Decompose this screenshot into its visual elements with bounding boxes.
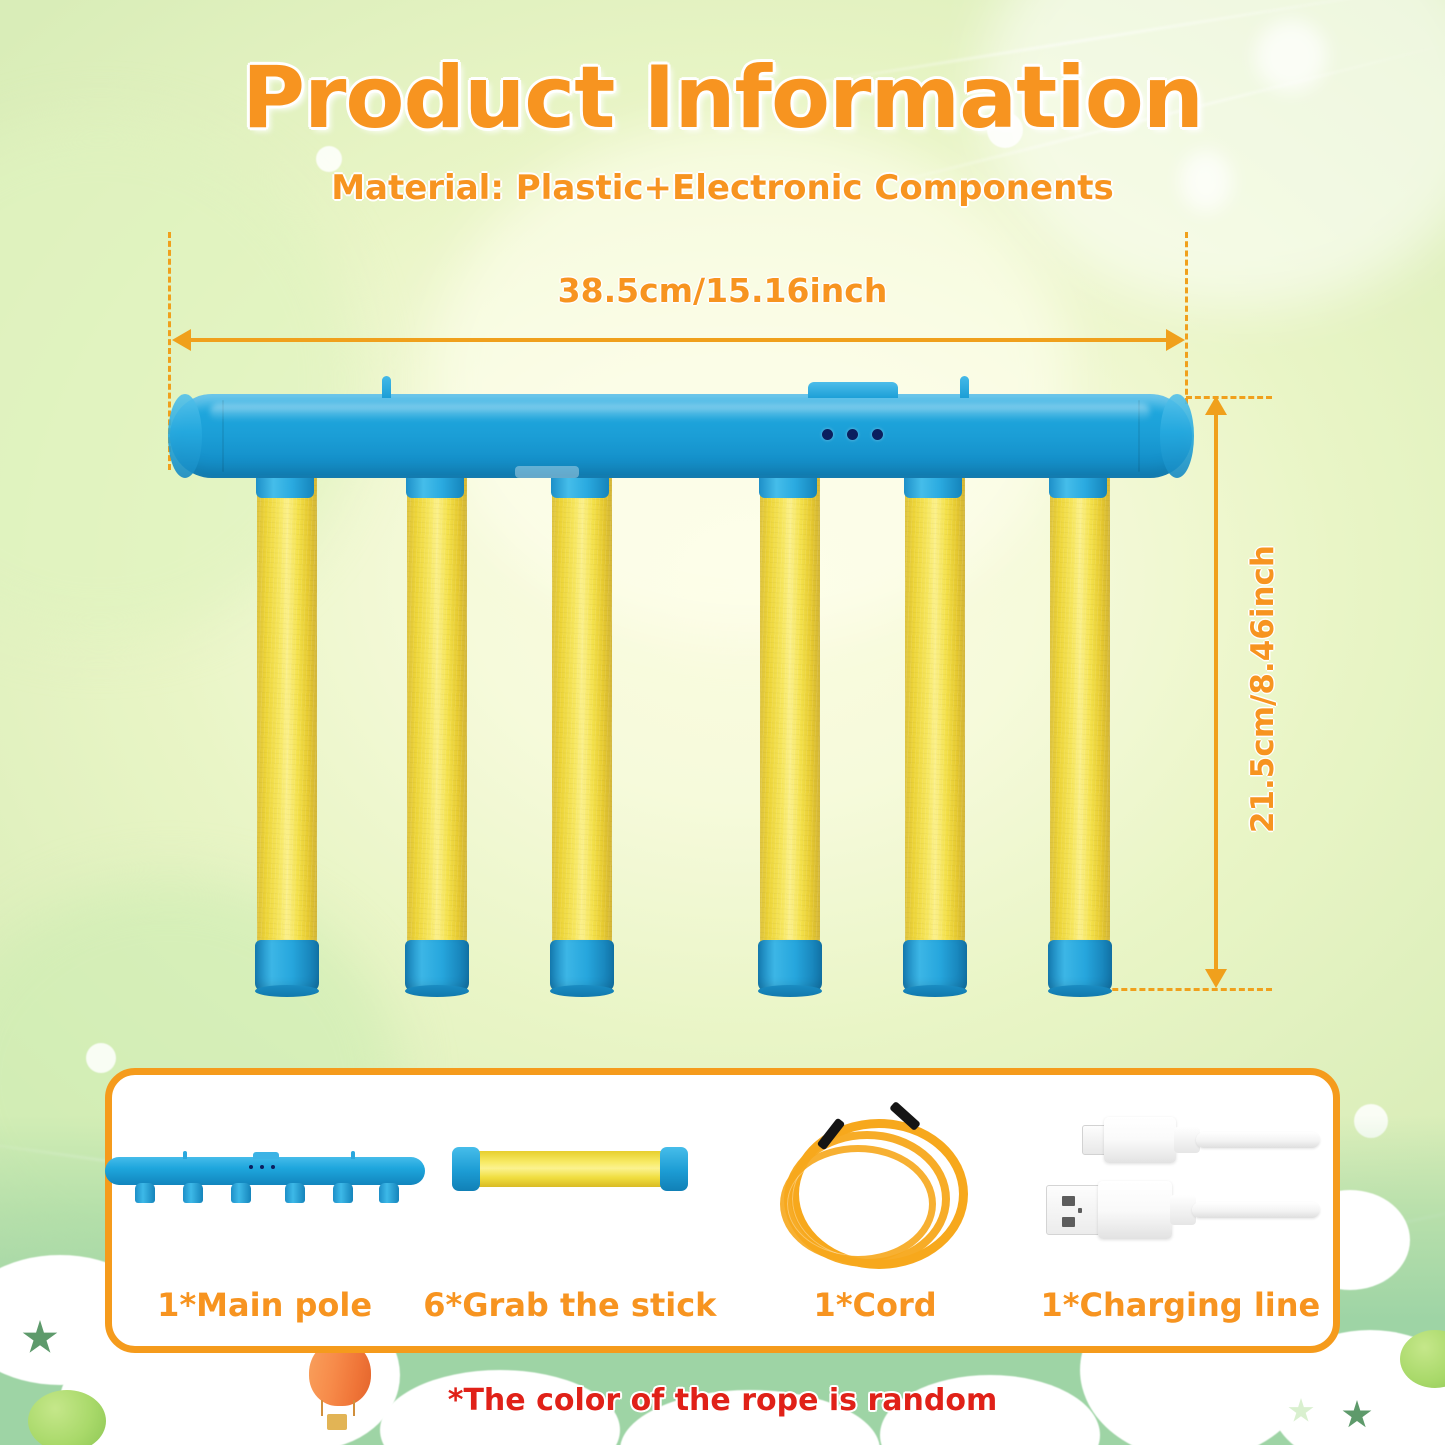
contents-label: 1*Main pole (112, 1286, 417, 1324)
height-dimension-label: 21.5cm/8.46inch (1245, 545, 1281, 833)
grab-stick (905, 470, 965, 948)
grab-stick-foot (550, 940, 614, 992)
grab-stick (760, 470, 820, 948)
contents-label: 1*Cord (723, 1286, 1028, 1324)
height-dimension-line (1214, 404, 1218, 980)
contents-label: 6*Grab the stick (417, 1286, 722, 1324)
grab-stick-icon (417, 1105, 722, 1255)
indicator-dot (822, 429, 833, 440)
pole-nub (960, 376, 969, 398)
grab-stick (257, 470, 317, 948)
contents-item-main-pole: 1*Main pole (112, 1075, 417, 1346)
width-dimension-label: 38.5cm/15.16inch (0, 271, 1445, 310)
rope-color-note: *The color of the rope is random (0, 1383, 1445, 1418)
contents-label: 1*Charging line (1028, 1286, 1333, 1324)
product-information-infographic: Product Information Material: Plastic+El… (0, 0, 1445, 1445)
contents-item-grab-stick: 6*Grab the stick (417, 1075, 722, 1346)
width-arrow-right-icon (1166, 329, 1185, 351)
usb-a-connector (1046, 1185, 1102, 1235)
width-arrow-left-icon (172, 329, 191, 351)
contents-item-charging-line: 1*Charging line (1028, 1075, 1333, 1346)
pole-nub (382, 376, 391, 398)
grab-stick (552, 470, 612, 948)
dimension-guide-right (1185, 232, 1188, 404)
grab-stick-foot (255, 940, 319, 992)
pole-slot (515, 466, 579, 478)
height-arrow-up-icon (1205, 396, 1227, 415)
grab-stick-foot (405, 940, 469, 992)
cord-icon (723, 1105, 1028, 1255)
indicator-dot (847, 429, 858, 440)
package-contents-box: 1*Main pole 6*Grab the stick (105, 1068, 1340, 1353)
grab-stick-foot (1048, 940, 1112, 992)
indicator-lights (822, 429, 883, 440)
height-arrow-down-icon (1205, 969, 1227, 988)
indicator-dot (872, 429, 883, 440)
main-pole (170, 394, 1192, 478)
grab-stick (407, 470, 467, 948)
contents-item-cord: 1*Cord (723, 1075, 1028, 1346)
material-subtitle: Material: Plastic+Electronic Components (0, 168, 1445, 208)
pole-power-button[interactable] (808, 382, 898, 398)
height-guide-top (1186, 396, 1272, 399)
grab-stick (1050, 470, 1110, 948)
grab-stick-foot (903, 940, 967, 992)
bokeh-5 (86, 1043, 116, 1073)
page-title: Product Information (0, 48, 1445, 148)
charging-cable-icon (1028, 1105, 1333, 1255)
grab-stick-foot (758, 940, 822, 992)
width-dimension-line (176, 338, 1180, 342)
main-pole-icon (112, 1105, 417, 1255)
